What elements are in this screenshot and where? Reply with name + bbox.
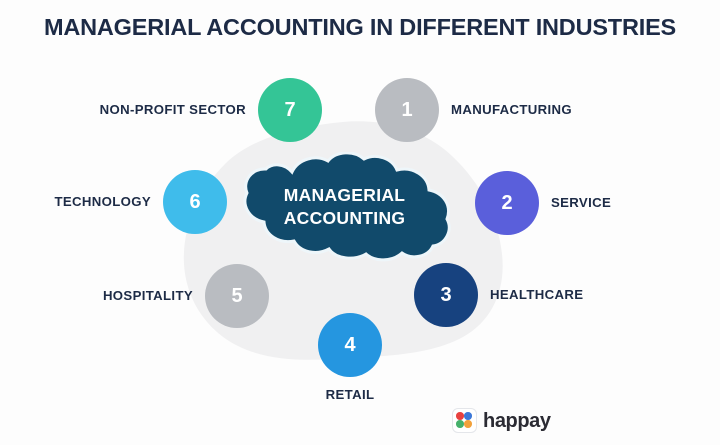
node-label-3: HEALTHCARE xyxy=(490,287,583,302)
node-number: 7 xyxy=(284,99,295,122)
node-label-4: RETAIL xyxy=(270,387,430,402)
node-circle-2[interactable]: 2 xyxy=(475,171,539,235)
node-circle-1[interactable]: 1 xyxy=(375,78,439,142)
page-title: MANAGERIAL ACCOUNTING IN DIFFERENT INDUS… xyxy=(0,14,720,41)
node-number: 2 xyxy=(501,192,512,215)
logo-dot xyxy=(464,420,472,428)
logo-dot xyxy=(464,412,472,420)
node-label-1: MANUFACTURING xyxy=(451,102,572,117)
node-label-2: SERVICE xyxy=(551,195,611,210)
node-label-6: TECHNOLOGY xyxy=(54,194,151,209)
node-number: 6 xyxy=(189,191,200,214)
happay-logo: happay xyxy=(452,408,551,433)
node-circle-7[interactable]: 7 xyxy=(258,78,322,142)
node-label-5: HOSPITALITY xyxy=(103,288,193,303)
happay-logo-icon xyxy=(452,408,477,433)
node-circle-3[interactable]: 3 xyxy=(414,263,478,327)
infographic-canvas: MANAGERIAL ACCOUNTING IN DIFFERENT INDUS… xyxy=(0,0,720,445)
node-number: 4 xyxy=(344,334,355,357)
node-circle-4[interactable]: 4 xyxy=(318,313,382,377)
node-label-7: NON-PROFIT SECTOR xyxy=(100,102,246,117)
node-number: 3 xyxy=(440,284,451,307)
node-number: 5 xyxy=(231,285,242,308)
central-concept: MANAGERIAL ACCOUNTING xyxy=(232,152,457,262)
happay-logo-text: happay xyxy=(483,411,551,431)
logo-dot xyxy=(456,412,464,420)
node-circle-6[interactable]: 6 xyxy=(163,170,227,234)
logo-dot xyxy=(456,420,464,428)
node-circle-5[interactable]: 5 xyxy=(205,264,269,328)
node-number: 1 xyxy=(401,99,412,122)
